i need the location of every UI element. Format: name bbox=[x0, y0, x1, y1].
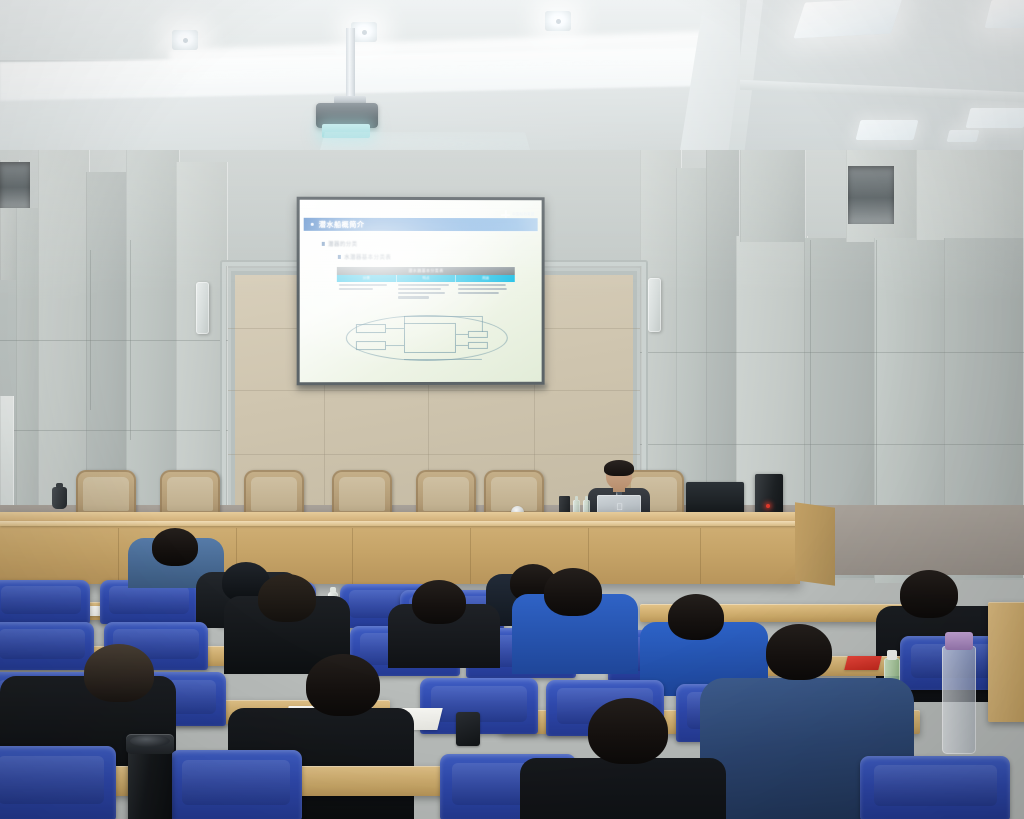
wall-recess-left bbox=[0, 162, 30, 208]
presenter-hair bbox=[604, 460, 634, 476]
slide-title: 潜水船概简介 bbox=[319, 219, 365, 229]
bottle-cap-icon bbox=[330, 587, 336, 593]
diagram-connector bbox=[456, 345, 468, 346]
wall-seam-1 bbox=[90, 250, 91, 410]
diagram-block bbox=[356, 324, 386, 333]
wall-panel-l3 bbox=[38, 150, 90, 510]
diagram-connector bbox=[404, 316, 482, 317]
tile-seam bbox=[228, 454, 640, 455]
ceiling-panel-light-4 bbox=[985, 0, 1024, 28]
ceiling-panel-light-1 bbox=[793, 0, 902, 39]
diagram-connector bbox=[386, 345, 404, 346]
slide-bullet-1-text: 潜器的分类 bbox=[328, 240, 358, 248]
slide-table: 潜水器基本分类表 分类 特点 用途 bbox=[337, 267, 515, 300]
wall-seam-h1 bbox=[0, 340, 228, 341]
bullet-square-icon bbox=[338, 255, 341, 258]
wall-panel-l5 bbox=[126, 150, 180, 512]
slide-bullet-2: 水潜器基本分类表 bbox=[338, 253, 391, 261]
attendee-head bbox=[588, 698, 668, 764]
diagram-connector bbox=[482, 316, 483, 332]
attendee-head bbox=[306, 654, 380, 716]
diagram-block bbox=[468, 331, 488, 338]
wall-speaker-left bbox=[196, 282, 209, 334]
diagram-connector bbox=[386, 328, 404, 329]
slide-table-col-1: 分类 bbox=[337, 275, 397, 282]
attendee-head bbox=[544, 568, 602, 616]
red-notebook[interactable] bbox=[844, 656, 881, 670]
wall-panel-r5 bbox=[740, 150, 806, 242]
diagram-block bbox=[356, 341, 386, 350]
attendee-head bbox=[258, 574, 316, 622]
attendee-head bbox=[412, 580, 466, 624]
slide-title-bullet-icon bbox=[311, 223, 314, 226]
podium-top-surface bbox=[0, 512, 800, 521]
water-bottle-purple-cap[interactable] bbox=[942, 646, 976, 754]
slide-table-columns: 分类 特点 用途 bbox=[337, 275, 515, 282]
desktop-monitor[interactable] bbox=[686, 482, 744, 514]
diagram-connector bbox=[404, 316, 405, 324]
diagram-connector bbox=[404, 359, 482, 360]
diagram-connector bbox=[456, 334, 468, 335]
diagram-block-main bbox=[404, 323, 456, 353]
thermos-lid-top-icon bbox=[130, 735, 170, 747]
ceiling-panel-light-2 bbox=[856, 120, 919, 140]
slide-table-col-3-label: 用途 bbox=[482, 276, 489, 281]
table-row bbox=[456, 284, 515, 300]
diagram-block bbox=[468, 342, 488, 349]
lecture-hall-scene: 中国船舶集团 潜水船概简介 潜器的分类 水潜器基本分类表 潜水器基本分类表 bbox=[0, 0, 1024, 819]
attendee-head bbox=[668, 594, 724, 640]
slide-table-col-1-label: 分类 bbox=[363, 276, 370, 281]
apple-logo-icon:  bbox=[616, 503, 623, 511]
smartphone[interactable] bbox=[456, 712, 480, 746]
attendee-head bbox=[900, 570, 958, 618]
submersible-block-diagram bbox=[346, 315, 508, 361]
slide-logo-text: 中国船舶集团 bbox=[512, 212, 535, 217]
audience-seat[interactable] bbox=[0, 580, 90, 624]
projection-screen-surface: 中国船舶集团 潜水船概简介 潜器的分类 水潜器基本分类表 潜水器基本分类表 bbox=[300, 200, 542, 383]
ceiling-spotlight-3 bbox=[545, 11, 571, 31]
ceiling-panel-light-3 bbox=[966, 108, 1024, 128]
wall-doorway-left bbox=[0, 396, 14, 516]
slide-table-header: 潜水器基本分类表 bbox=[337, 267, 515, 275]
wall-panel-l4 bbox=[86, 172, 130, 512]
projector-mount-pole bbox=[346, 28, 355, 100]
side-counter bbox=[988, 602, 1024, 722]
attendee-body bbox=[520, 758, 726, 819]
audience-seat[interactable] bbox=[0, 746, 116, 819]
audience-area bbox=[0, 560, 1024, 819]
ceiling-spotlight-1 bbox=[172, 30, 198, 50]
wall-panel-l6 bbox=[176, 162, 228, 512]
attendee-head bbox=[84, 644, 154, 702]
slide-table-col-2-label: 特点 bbox=[422, 276, 429, 281]
speaker-power-led-icon bbox=[766, 504, 770, 508]
slide-table-body bbox=[337, 282, 515, 300]
wall-recess-window bbox=[848, 166, 894, 224]
projection-screen: 中国船舶集团 潜水船概简介 潜器的分类 水潜器基本分类表 潜水器基本分类表 bbox=[297, 197, 545, 386]
attendee-head bbox=[766, 624, 832, 680]
presentation-slide: 中国船舶集团 潜水船概简介 潜器的分类 水潜器基本分类表 潜水器基本分类表 bbox=[304, 210, 538, 374]
wall-speaker-right bbox=[648, 278, 661, 332]
bottle-cap-icon bbox=[887, 650, 897, 660]
ceiling-panel-light-5 bbox=[947, 130, 980, 142]
electric-kettle[interactable] bbox=[52, 487, 67, 509]
slide-table-header-text: 潜水器基本分类表 bbox=[408, 268, 443, 274]
table-row bbox=[337, 284, 396, 300]
audience-seat[interactable] bbox=[0, 622, 94, 670]
wall-seam-h2 bbox=[0, 430, 228, 431]
bottle-cap-icon bbox=[945, 632, 973, 650]
audience-seat[interactable] bbox=[860, 756, 1010, 819]
slide-bullet-2-text: 水潜器基本分类表 bbox=[344, 253, 391, 261]
slide-table-col-3: 用途 bbox=[456, 275, 514, 282]
thermos-flask[interactable] bbox=[128, 734, 172, 819]
audience-seat[interactable] bbox=[170, 750, 302, 819]
attendee-head bbox=[152, 528, 198, 566]
slide-bullet-1: 潜器的分类 bbox=[322, 240, 358, 248]
podium-trim bbox=[0, 521, 800, 526]
wall-seam-rh2 bbox=[640, 444, 1024, 445]
wall-panel-r9 bbox=[916, 150, 1024, 240]
bullet-square-icon bbox=[322, 242, 325, 245]
slide-table-col-2: 特点 bbox=[397, 275, 457, 282]
wall-seam-rh1 bbox=[640, 352, 1024, 353]
table-row bbox=[396, 284, 455, 300]
